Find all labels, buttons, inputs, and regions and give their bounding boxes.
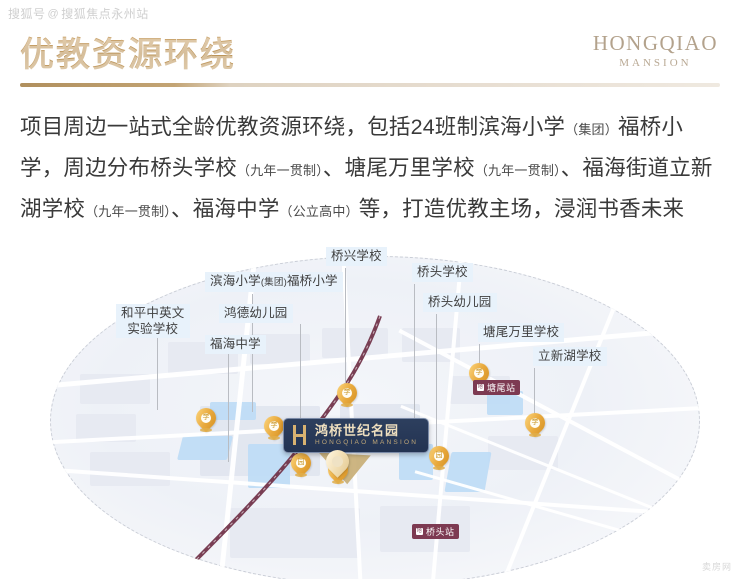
map-label-fuhai-middle-text: 福海中学 <box>210 337 261 351</box>
map-label-heping-line2: 实验学校 <box>127 322 178 336</box>
pin-glyph-icon: 学 <box>530 418 540 428</box>
sohu-watermark: 搜狐号 @ 搜狐焦点永州站 <box>8 5 149 22</box>
metro-station-tangwei-name: 塘尾站 <box>487 381 516 394</box>
metro-station-qiaotou[interactable]: 地 桥头站 <box>412 524 459 539</box>
copy-line2-a: 学，周边分布桥头学校 <box>20 156 237 180</box>
map-label-tangwei-text: 塘尾万里学校 <box>483 325 559 339</box>
map-label-qiaotou-school-text: 桥头学校 <box>417 265 468 279</box>
project-name-badge[interactable]: 鸿桥世纪名园 HONGQIAO MANSION <box>283 418 429 453</box>
copy-line1-b: 福桥小 <box>618 115 683 139</box>
map-block <box>230 508 360 558</box>
project-name-cn: 鸿桥世纪名园 <box>315 424 418 437</box>
pin-base-shadow <box>200 428 212 432</box>
pin-glyph-icon: 园 <box>296 458 306 468</box>
copy-line2-note1: （九年一贯制） <box>237 163 323 178</box>
project-logo-icon <box>291 425 308 445</box>
pin-glyph-icon: 学 <box>342 388 352 398</box>
map-label-heping-line1: 和平中英文 <box>121 306 185 320</box>
pin-base-shadow <box>341 403 353 407</box>
map-label-hongde[interactable]: 鸿德幼儿园 <box>219 304 293 323</box>
map-label-heping[interactable]: 和平中英文 实验学校 <box>116 304 190 338</box>
pin-glyph-icon: 园 <box>434 451 444 461</box>
pin-base-shadow <box>295 473 307 477</box>
brand-name-main: HONGQIAO <box>593 31 718 56</box>
label-leader-line <box>345 268 346 388</box>
copy-line3-b: 、福海中学 <box>171 197 280 221</box>
copy-line2-note2: （九年一贯制） <box>475 163 561 178</box>
map-pin-lixinhu[interactable]: 学 <box>525 413 545 441</box>
copy-line3-c: 等，打造优教主场，浸润书香未来 <box>359 197 685 221</box>
pin-base-shadow <box>268 436 280 440</box>
map-label-hongde-text: 鸿德幼儿园 <box>224 306 288 320</box>
map-label-qiaotou-kinder-text: 桥头幼儿园 <box>428 295 492 309</box>
brand-name-sub: MANSION <box>593 57 718 69</box>
metro-station-tangwei[interactable]: 地 塘尾站 <box>473 380 520 395</box>
map-label-binhai-text2: 福桥小学 <box>287 274 338 288</box>
project-name-text: 鸿桥世纪名园 HONGQIAO MANSION <box>315 424 418 447</box>
copy-line2-b: 、塘尾万里学校 <box>323 156 475 180</box>
label-leader-line <box>228 354 229 462</box>
description-paragraph: 项目周边一站式全龄优教资源环绕，包括24班制滨海小学（集团）福桥小学，周边分布桥… <box>20 108 720 231</box>
map-label-qiaotou-school[interactable]: 桥头学校 <box>412 263 473 282</box>
corner-watermark: 卖房网 <box>702 560 732 573</box>
map-pin-project[interactable] <box>326 450 350 482</box>
map-pin-hongde[interactable]: 园 <box>291 453 311 481</box>
brand-logo: HONGQIAO MANSION <box>593 31 718 69</box>
map-label-qiaoxing-text: 桥兴学校 <box>331 249 382 263</box>
watermark-text-after: 搜狐焦点永州站 <box>61 5 149 22</box>
map-label-fuhai-middle[interactable]: 福海中学 <box>205 335 266 354</box>
pin-inner-dot <box>332 456 343 467</box>
map-pin-binhai[interactable]: 学 <box>264 416 284 444</box>
metro-icon: 地 <box>477 384 484 391</box>
map-pin-qiaotou-kinder[interactable]: 园 <box>429 446 449 474</box>
map-label-qiaoxing[interactable]: 桥兴学校 <box>326 247 387 266</box>
label-leader-line <box>157 330 158 410</box>
copy-line2-c: 、福海街道立新 <box>561 156 713 180</box>
map-label-qiaotou-kinder[interactable]: 桥头幼儿园 <box>423 293 497 312</box>
copy-line3-a: 湖学校 <box>20 197 85 221</box>
map-pin-heping[interactable]: 学 <box>196 408 216 436</box>
map-label-binhai[interactable]: 滨海小学(集团)福桥小学 <box>205 272 343 292</box>
map-highlight-parcel <box>210 402 256 420</box>
map-label-lixinhu-text: 立新湖学校 <box>538 349 602 363</box>
pin-glyph-icon: 学 <box>201 413 211 423</box>
pin-base-shadow <box>529 433 541 437</box>
map-label-tangwei[interactable]: 塘尾万里学校 <box>478 323 564 342</box>
page-header: 优教资源环绕 HONGQIAO MANSION <box>0 25 740 91</box>
pin-glyph-icon: 学 <box>269 421 279 431</box>
watermark-at-icon: @ <box>48 8 60 20</box>
copy-line1-note: （集团） <box>565 122 618 137</box>
map-label-binhai-note: (集团) <box>261 277 287 288</box>
map-block <box>90 452 170 486</box>
copy-line1-a: 项目周边一站式全龄优教资源环绕，包括24班制滨海小学 <box>20 115 565 139</box>
label-leader-line <box>436 314 437 452</box>
watermark-text-before: 搜狐号 <box>8 5 46 22</box>
page-title: 优教资源环绕 <box>20 27 236 76</box>
copy-line3-note2: （公立高中） <box>280 204 359 219</box>
pin-base-shadow <box>433 466 445 470</box>
metro-station-qiaotou-name: 桥头站 <box>426 525 455 538</box>
project-name-en: HONGQIAO MANSION <box>315 440 418 447</box>
label-leader-line <box>414 284 415 422</box>
map-label-binhai-text: 滨海小学 <box>210 274 261 288</box>
header-divider <box>20 83 720 87</box>
map-pin-qiaoxing[interactable]: 学 <box>337 383 357 411</box>
pin-glyph-icon: 学 <box>474 368 484 378</box>
map-label-lixinhu[interactable]: 立新湖学校 <box>533 347 607 366</box>
location-map[interactable]: 和平中英文 实验学校 滨海小学(集团)福桥小学 鸿德幼儿园 福海中学 桥兴学校 … <box>0 232 740 579</box>
copy-line3-note1: （九年一贯制） <box>85 204 171 219</box>
metro-icon: 地 <box>416 528 423 535</box>
map-highlight-parcel <box>177 436 233 460</box>
